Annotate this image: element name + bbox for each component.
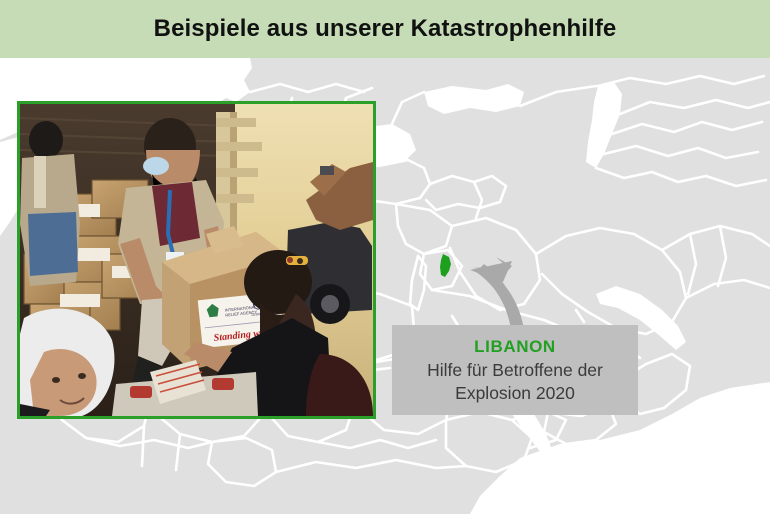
page-title: Beispiele aus unserer Katastrophenhilfe — [154, 15, 617, 43]
slide-root: Beispiele aus unserer Katastrophenhilfe — [0, 0, 770, 514]
caption-description-line-1: Hilfe für Betroffene der — [427, 359, 603, 382]
caption-country-name: LIBANON — [474, 336, 556, 357]
country-caption-box: LIBANON Hilfe für Betroffene der Explosi… — [392, 325, 638, 415]
caption-description-line-2: Explosion 2020 — [455, 382, 575, 405]
aid-delivery-photo: INTERNATIONAL RELIEF AGENCY LEBANON RELI… — [17, 101, 376, 419]
header-band: Beispiele aus unserer Katastrophenhilfe — [0, 0, 770, 58]
aid-delivery-photo-graphic: INTERNATIONAL RELIEF AGENCY LEBANON RELI… — [20, 104, 373, 416]
map-stage: INTERNATIONAL RELIEF AGENCY LEBANON RELI… — [0, 58, 770, 514]
